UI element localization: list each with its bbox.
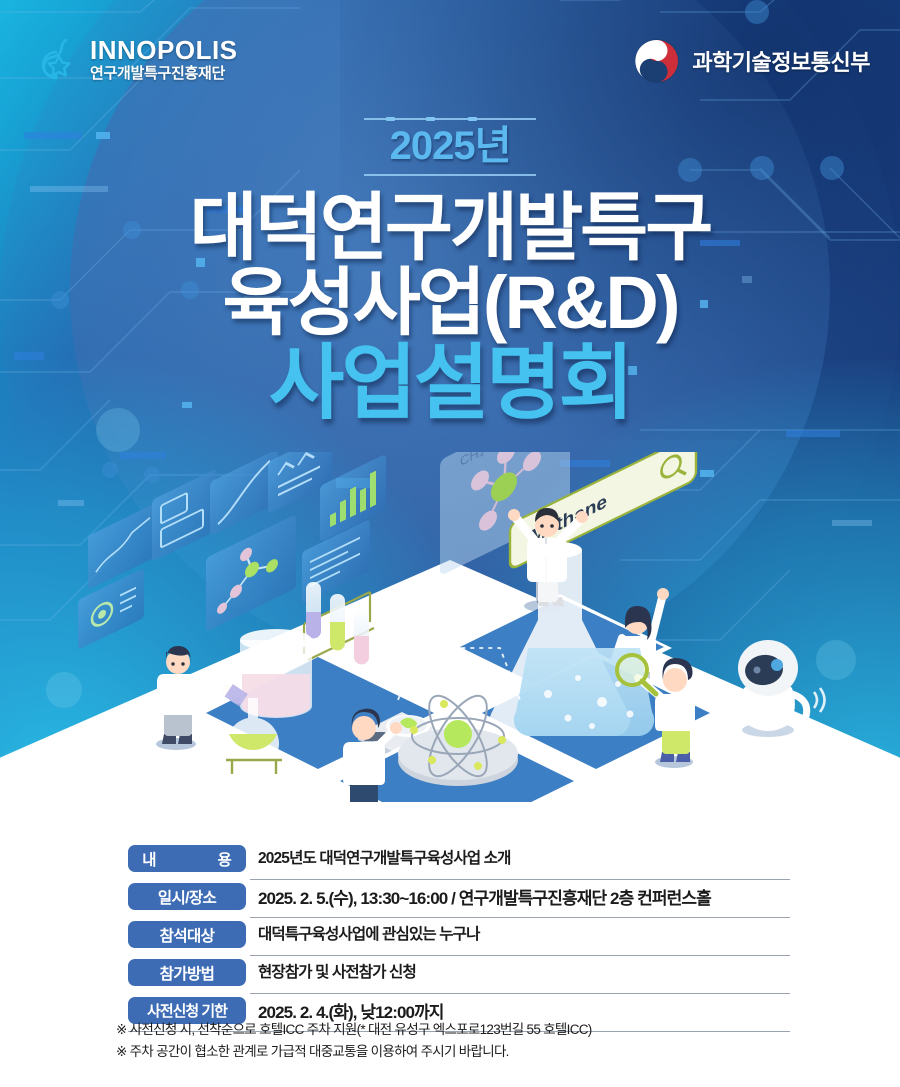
laboratory-illustration: CH₄ Methane: [0, 452, 900, 802]
footnote-parking-support: ※ 사전신청 시, 선착순으로 호텔ICC 주차 지원(* 대전 유성구 엑스포…: [116, 1019, 836, 1041]
footnotes: ※ 사전신청 시, 선착순으로 호텔ICC 주차 지원(* 대전 유성구 엑스포…: [116, 1019, 836, 1064]
table-row: 참가방법 현장참가 및 사전참가 신청: [128, 956, 778, 994]
row-label-datetime-venue: 일시/장소: [128, 883, 246, 910]
year-label: 2025년: [390, 126, 511, 166]
innopolis-name: INNOPOLIS: [90, 37, 238, 63]
footnote-public-transport: ※ 주차 공간이 협소한 관계로 가급적 대중교통을 이용하여 주시기 바랍니다…: [116, 1041, 836, 1063]
year-tick: [468, 117, 477, 121]
row-value-content: 2025년도 대덕연구개발특구육성사업 소개: [246, 842, 778, 868]
title-line-2: 육성사업(R&D): [0, 267, 900, 340]
innopolis-star-logo-icon: [36, 36, 80, 82]
title-line-1: 대덕연구개발특구: [0, 192, 900, 265]
test-tube-rack: [304, 582, 374, 665]
row-label-content: 내 용: [128, 845, 246, 872]
title-block: 2025년 대덕연구개발특구 육성사업(R&D) 사업설명회: [0, 118, 900, 425]
robot-assistant: [738, 640, 825, 737]
innopolis-logo-text: INNOPOLIS 연구개발특구진흥재단: [90, 37, 238, 81]
row-value-participation: 현장참가 및 사전참가 신청: [246, 956, 778, 982]
table-row: 내 용 2025년도 대덕연구개발특구육성사업 소개: [128, 842, 778, 880]
year-rule-bottom: [364, 174, 537, 176]
year-badge: 2025년: [364, 118, 537, 176]
innopolis-subtitle: 연구개발특구진흥재단: [90, 66, 238, 81]
header-logo-row: INNOPOLIS 연구개발특구진흥재단 과학기술정보통신부: [0, 0, 900, 110]
decor-chip: [786, 430, 840, 437]
year-tick: [386, 117, 395, 121]
innopolis-logo: INNOPOLIS 연구개발특구진흥재단: [36, 36, 238, 82]
poster-root: INNOPOLIS 연구개발특구진흥재단 과학기술정보통신부: [0, 0, 900, 1087]
ministry-logo: 과학기술정보통신부: [634, 38, 870, 84]
title-line-3: 사업설명회: [0, 343, 900, 425]
table-row: 참석대상 대덕특구육성사업에 관심있는 누구나: [128, 918, 778, 956]
info-table: 내 용 2025년도 대덕연구개발특구육성사업 소개 일시/장소 2025. 2…: [128, 842, 778, 1032]
table-row: 일시/장소 2025. 2. 5.(수), 13:30~16:00 / 연구개발…: [128, 880, 778, 918]
row-label-participation: 참가방법: [128, 959, 246, 986]
row-label-audience: 참석대상: [128, 921, 246, 948]
ministry-name: 과학기술정보통신부: [692, 45, 870, 77]
row-value-datetime-venue: 2025. 2. 5.(수), 13:30~16:00 / 연구개발특구진흥재단…: [246, 880, 778, 909]
taeguk-korea-government-icon: [634, 38, 680, 84]
year-tick: [426, 117, 435, 121]
row-value-audience: 대덕특구육성사업에 관심있는 누구나: [246, 918, 778, 944]
